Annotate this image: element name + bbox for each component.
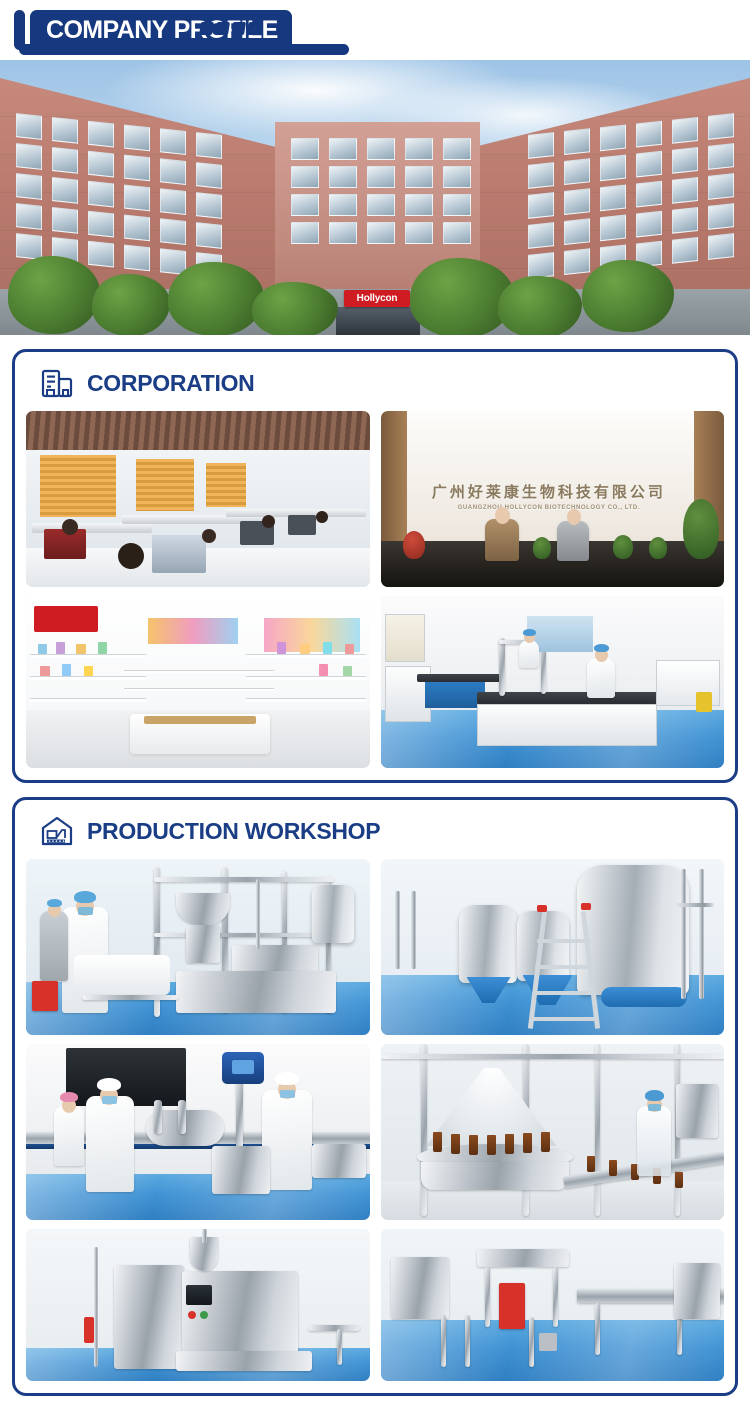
photo-open-plan-office — [26, 411, 370, 587]
header-decor-squares-icon — [200, 22, 261, 35]
production-workshop-title: PRODUCTION WORKSHOP — [87, 820, 380, 843]
photo-rotary-filler — [381, 1044, 725, 1220]
tree — [92, 274, 170, 335]
production-workshop-header: PRODUCTION WORKSHOP — [26, 812, 724, 859]
corporation-header: CORPORATION — [26, 364, 724, 411]
showroom-scene — [26, 596, 370, 768]
packing-conveyor-scene — [381, 1229, 725, 1381]
photo-labeling-line — [26, 1044, 370, 1220]
company-name-wall: 广州好莱康生物科技有限公司 GUANGZHOU HOLLYCON BIOTECH… — [422, 481, 676, 511]
production-workshop-photo-grid — [26, 859, 724, 1381]
mixing-tanks-scene — [381, 859, 725, 1035]
header-underline-bar — [19, 44, 349, 55]
step-ladder — [531, 911, 597, 1029]
photo-product-showroom — [26, 596, 370, 768]
section-production-workshop: PRODUCTION WORKSHOP — [12, 797, 738, 1396]
corporation-title: CORPORATION — [87, 372, 255, 395]
photo-filling-line-workers — [26, 859, 370, 1035]
tree — [410, 258, 514, 335]
company-building-photo: Hollycon — [0, 60, 750, 335]
page-header: COMPANY PROFILE — [0, 0, 750, 60]
photo-company-reception: 广州好莱康生物科技有限公司 GUANGZHOU HOLLYCON BIOTECH… — [381, 411, 725, 587]
building-entrance — [336, 307, 420, 335]
tree — [252, 282, 338, 335]
company-name-en: GUANGZHOU HOLLYCON BIOTECHNOLOGY CO., LT… — [422, 505, 676, 511]
labeling-line-scene — [26, 1044, 370, 1220]
office-scene — [26, 411, 370, 587]
tree — [582, 260, 674, 332]
factory-workshop-icon — [40, 814, 74, 848]
photo-packing-conveyor — [381, 1229, 725, 1381]
photo-tube-filling-machine — [26, 1229, 370, 1381]
tree — [8, 256, 100, 334]
photo-mixing-tanks — [381, 859, 725, 1035]
reception-scene: 广州好莱康生物科技有限公司 GUANGZHOU HOLLYCON BIOTECH… — [381, 411, 725, 587]
tree — [168, 262, 264, 335]
tube-filler-scene — [26, 1229, 370, 1381]
photo-laboratory — [381, 596, 725, 768]
hollycon-sign: Hollycon — [344, 290, 410, 307]
office-building-icon — [40, 366, 74, 400]
filling-line-scene — [26, 859, 370, 1035]
tree — [498, 276, 582, 335]
corporation-photo-grid: 广州好莱康生物科技有限公司 GUANGZHOU HOLLYCON BIOTECH… — [26, 411, 724, 768]
rotary-filler-scene — [381, 1044, 725, 1220]
company-name-cn: 广州好莱康生物科技有限公司 — [422, 481, 676, 502]
section-corporation: CORPORATION — [12, 349, 738, 783]
laboratory-scene — [381, 596, 725, 768]
